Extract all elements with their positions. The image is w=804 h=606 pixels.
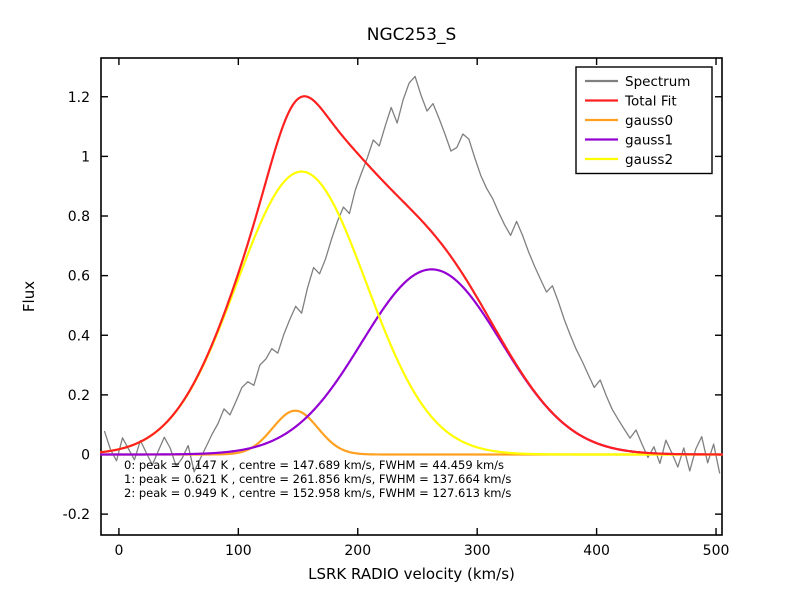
y-axis-label: Flux [20, 281, 38, 312]
chart-plot: NGC253_S0100200300400500-0.200.20.40.60.… [0, 0, 804, 606]
figure-canvas: NGC253_S0100200300400500-0.200.20.40.60.… [0, 0, 804, 606]
series-gauss2 [101, 172, 722, 455]
legend-label-spectrum: Spectrum [625, 74, 690, 90]
y-tick-label: 1.2 [68, 90, 90, 106]
y-tick-label: 0.4 [68, 328, 90, 344]
x-tick-label: 400 [583, 543, 610, 559]
fit-annotation-2: 2: peak = 0.949 K , centre = 152.958 km/… [124, 486, 511, 500]
legend-label-gauss1: gauss1 [625, 133, 673, 149]
chart-title: NGC253_S [367, 25, 457, 45]
x-tick-label: 300 [464, 543, 491, 559]
series-gauss1 [101, 269, 722, 454]
y-tick-label: 1 [81, 149, 90, 165]
x-axis-label: LSRK RADIO velocity (km/s) [308, 565, 515, 583]
x-tick-label: 0 [114, 543, 123, 559]
x-tick-label: 200 [344, 543, 371, 559]
legend-label-gauss2: gauss2 [625, 152, 673, 168]
y-tick-label: -0.2 [63, 507, 90, 523]
x-tick-label: 100 [225, 543, 252, 559]
y-tick-label: 0.6 [68, 269, 90, 285]
y-tick-label: 0 [81, 448, 90, 464]
fit-annotation-1: 1: peak = 0.621 K , centre = 261.856 km/… [124, 472, 511, 486]
legend-label-total-fit: Total Fit [624, 94, 677, 110]
x-tick-label: 500 [703, 543, 730, 559]
series-gauss0 [101, 411, 722, 455]
y-tick-label: 0.8 [68, 209, 90, 225]
y-tick-label: 0.2 [68, 388, 90, 404]
legend-label-gauss0: gauss0 [625, 113, 673, 129]
fit-annotation-0: 0: peak = 0.147 K , centre = 147.689 km/… [124, 458, 504, 472]
